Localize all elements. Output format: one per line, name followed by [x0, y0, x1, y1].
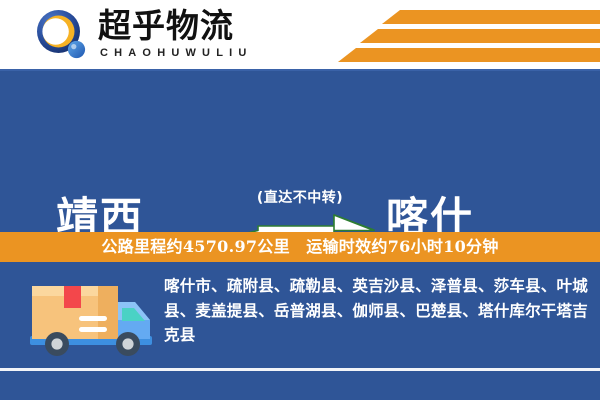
header-stripe-3: [338, 48, 600, 62]
header-stripe-1: [382, 10, 600, 24]
brand-name-en: CHAOHUWULIU: [98, 46, 253, 60]
brand-block: 超乎物流 CHAOHUWULIU: [98, 8, 253, 60]
header-stripes-decoration: [330, 0, 600, 69]
distance-duration-text: 公路里程约4570.97公里 运输时效约76小时10分钟: [101, 237, 498, 257]
route-band: 靖西 (直达不中转) 【往返运输】 喀什: [0, 71, 600, 230]
coverage-areas-text: 喀什市、疏附县、疏勒县、英吉沙县、泽普县、莎车县、叶城县、麦盖提县、岳普湖县、伽…: [164, 274, 588, 348]
road-line: [0, 368, 600, 371]
company-logo-icon: [33, 8, 93, 64]
header-stripe-2: [360, 29, 600, 43]
distance-duration-bar: 公路里程约4570.97公里 运输时效约76小时10分钟: [0, 232, 600, 262]
delivery-truck-icon: [24, 274, 158, 360]
logistics-route-poster: 超乎物流 CHAOHUWULIU 靖西 (直达不中转) 【往返运输】 喀什 公路…: [0, 0, 600, 400]
coverage-section: 喀什市、疏附县、疏勒县、英吉沙县、泽普县、莎车县、叶城县、麦盖提县、岳普湖县、伽…: [0, 262, 600, 400]
brand-name-cn: 超乎物流: [98, 8, 253, 44]
direct-shipping-note: (直达不中转): [0, 189, 600, 207]
poster-header: 超乎物流 CHAOHUWULIU: [0, 0, 600, 71]
